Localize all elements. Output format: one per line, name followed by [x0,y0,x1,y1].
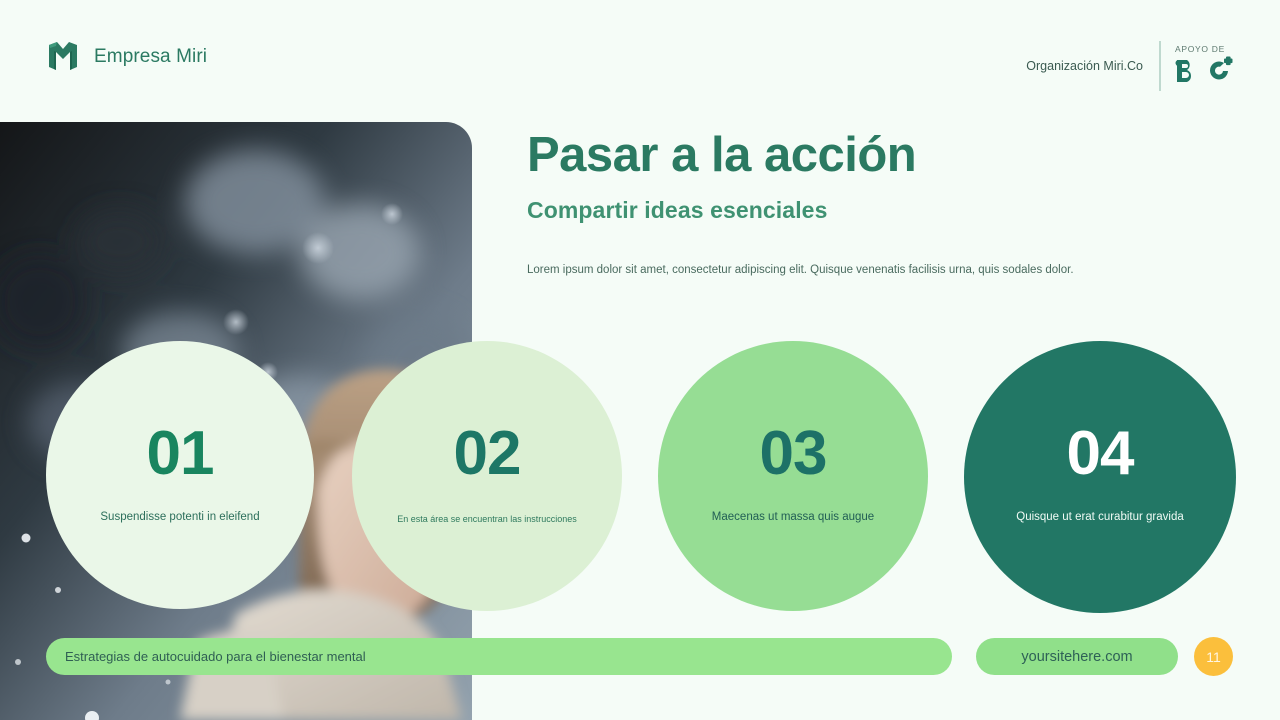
step-number: 02 [454,423,521,485]
c-plus-mark-icon [1208,56,1234,89]
brand-block: Empresa Miri [46,40,207,74]
m-monogram-icon [46,40,80,74]
step-caption: Suspendisse potenti in eleifend [86,510,273,525]
website-url: yoursitehere.com [1021,649,1132,665]
page-subtitle: Compartir ideas esenciales [527,197,827,224]
step-caption: En esta área se encuentran las instrucci… [383,514,591,526]
body-paragraph: Lorem ipsum dolor sit amet, consectetur … [527,262,1127,279]
step-caption: Maecenas ut massa quis augue [698,510,888,525]
brand-name: Empresa Miri [94,46,207,68]
step-number: 03 [760,423,827,485]
organization-name: Organización Miri.Co [1026,59,1159,73]
sponsor-block: APOYO DE [1161,44,1234,89]
sponsor-logos [1175,56,1234,89]
step-number: 04 [1067,423,1134,485]
b-mark-icon [1175,56,1199,89]
page-number: 11 [1206,649,1221,665]
page-number-badge: 11 [1194,637,1233,676]
footer-banner: Estrategias de autocuidado para el biene… [46,638,952,675]
step-circle-01[interactable]: 01 Suspendisse potenti in eleifend [46,341,314,609]
website-pill[interactable]: yoursitehere.com [976,638,1178,675]
step-circle-04[interactable]: 04 Quisque ut erat curabitur gravida [964,341,1236,613]
footer-banner-text: Estrategias de autocuidado para el biene… [46,649,366,664]
step-circle-02[interactable]: 02 En esta área se encuentran las instru… [352,341,622,611]
step-number: 01 [147,423,214,485]
page-header: Empresa Miri Organización Miri.Co APOYO … [0,0,1280,122]
step-circle-03[interactable]: 03 Maecenas ut massa quis augue [658,341,928,611]
header-right-block: Organización Miri.Co APOYO DE [1026,38,1234,94]
step-caption: Quisque ut erat curabitur gravida [1002,510,1197,525]
sponsor-label: APOYO DE [1175,44,1234,54]
page-title: Pasar a la acción [527,129,916,183]
